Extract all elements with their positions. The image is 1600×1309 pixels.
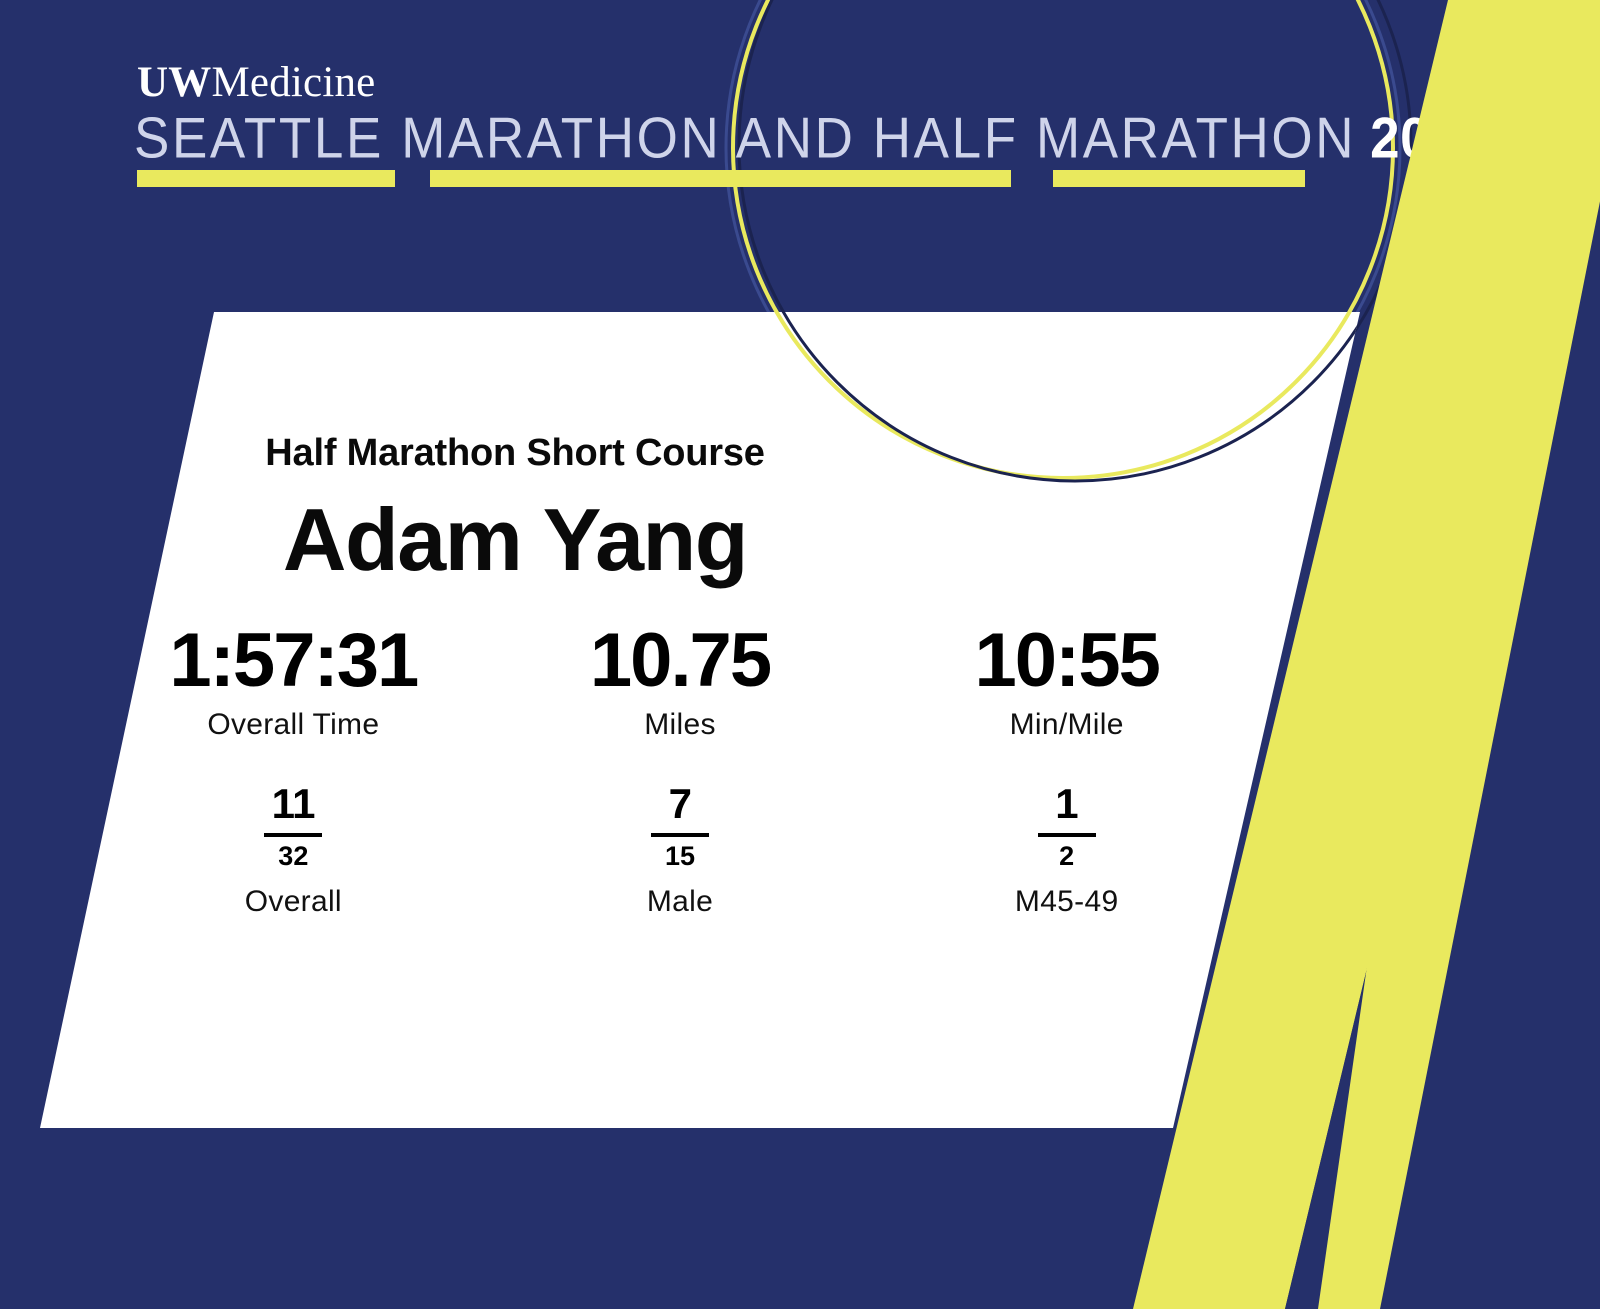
rank-place: 11 [264,782,322,826]
fraction-bar [1038,833,1096,837]
stat-label: Overall Time [100,708,487,742]
header-rule-bar-1 [137,170,395,187]
logo-medicine-text: Medicine [211,59,375,106]
rank-male: 7 15 Male [487,782,874,919]
rank-place: 7 [651,782,709,826]
rank-place: 1 [1038,782,1096,826]
stat-value: 10:55 [873,620,1260,702]
event-year: 2025 [1370,107,1490,171]
rank-label: M45-49 [873,885,1260,919]
rank-fraction: 11 32 [264,782,322,871]
stat-overall-time: 1:57:31 Overall Time [100,620,487,742]
rank-fraction: 7 15 [651,782,709,871]
logo-uw-text: UW [137,59,211,106]
fraction-bar [651,833,709,837]
stat-label: Miles [487,708,874,742]
event-title: SEATTLE MARATHON AND HALF MARATHON2025 [134,108,1490,171]
event-title-text: SEATTLE MARATHON AND HALF MARATHON [134,107,1356,171]
result-card-content: Half Marathon Short Course Adam Yang 1:5… [0,312,1360,1128]
fraction-bar [264,833,322,837]
race-result-poster: UWMedicine SEATTLE MARATHON AND HALF MAR… [0,0,1600,1309]
stat-value: 10.75 [487,620,874,702]
ranking-stats-row: 11 32 Overall 7 15 Male 1 2 [100,782,1260,919]
rank-age-group: 1 2 M45-49 [873,782,1260,919]
runner-name: Adam Yang [0,492,1030,588]
rank-label: Overall [100,885,487,919]
rank-total: 2 [1038,842,1096,871]
stat-min-per-mile: 10:55 Min/Mile [873,620,1260,742]
stat-miles: 10.75 Miles [487,620,874,742]
stat-value: 1:57:31 [100,620,487,702]
primary-stats-row: 1:57:31 Overall Time 10.75 Miles 10:55 M… [100,620,1260,742]
rank-overall: 11 32 Overall [100,782,487,919]
course-name: Half Marathon Short Course [0,432,1030,475]
stat-label: Min/Mile [873,708,1260,742]
rank-total: 15 [651,842,709,871]
rank-label: Male [487,885,874,919]
rank-fraction: 1 2 [1038,782,1096,871]
header-rule-bar-2 [430,170,1011,187]
rank-total: 32 [264,842,322,871]
header-rule-bar-3 [1053,170,1305,187]
poster-header: UWMedicine SEATTLE MARATHON AND HALF MAR… [0,0,1600,300]
uw-medicine-logo: UWMedicine [137,58,375,107]
